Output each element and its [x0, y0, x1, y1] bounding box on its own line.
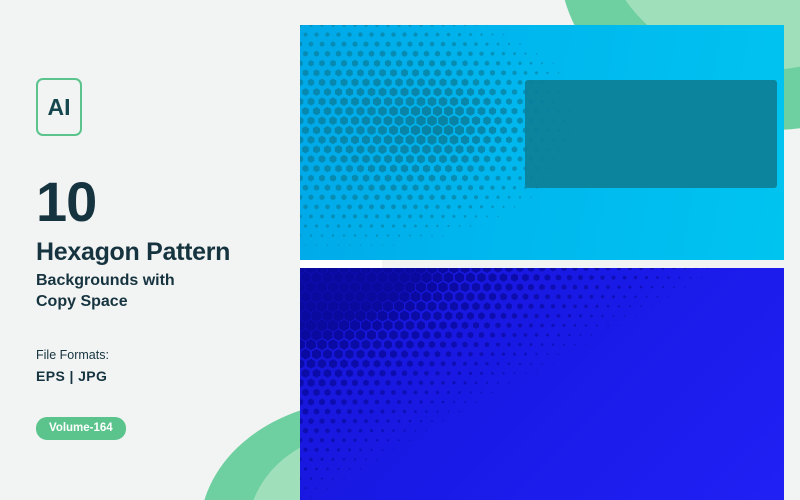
ai-badge-label: AI: [48, 94, 71, 121]
preview-image-top[interactable]: [300, 25, 784, 260]
file-formats-value: EPS | JPG: [36, 368, 286, 384]
preview-divider: [300, 260, 382, 268]
item-count: 10: [36, 174, 286, 230]
poster-canvas: AI 10 Hexagon Pattern Backgrounds with C…: [0, 0, 800, 500]
volume-badge: Volume-164: [36, 417, 126, 440]
info-panel: AI 10 Hexagon Pattern Backgrounds with C…: [36, 78, 286, 440]
preview-image-bottom[interactable]: [300, 268, 784, 500]
hexagon-pattern-bottom: [300, 268, 784, 500]
page-title: Hexagon Pattern: [36, 238, 286, 266]
page-subtitle-line2: Copy Space: [36, 291, 286, 312]
page-subtitle-line1: Backgrounds with: [36, 270, 286, 291]
file-formats-label: File Formats:: [36, 348, 286, 362]
hexagon-pattern-top: [300, 25, 784, 260]
ai-format-badge: AI: [36, 78, 82, 136]
